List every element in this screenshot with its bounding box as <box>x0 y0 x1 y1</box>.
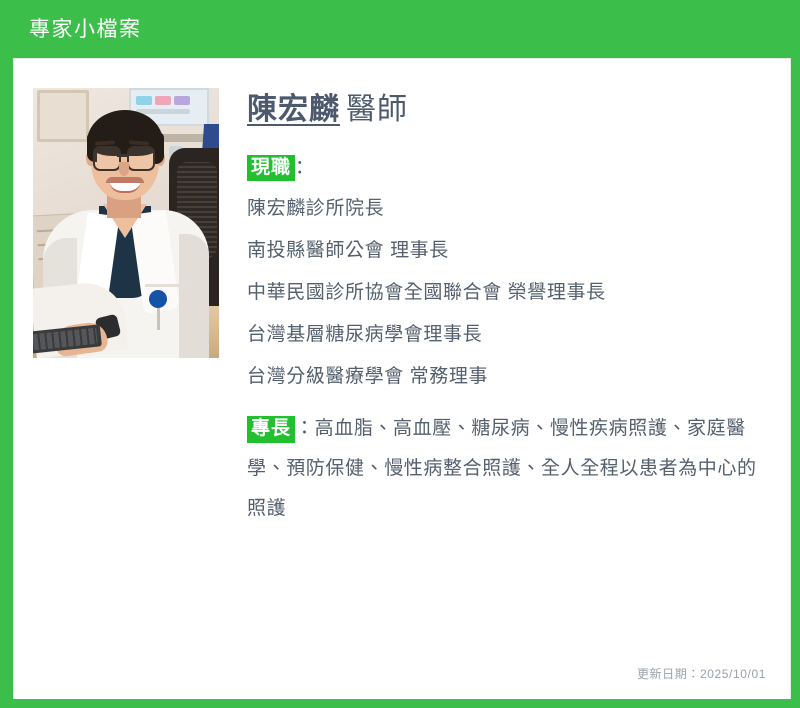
card-header-title: 專家小檔案 <box>29 19 142 40</box>
profile-card-frame: 專家小檔案 <box>0 0 800 708</box>
list-item: 中華民國診所協會全國聯合會 榮譽理事長 <box>247 283 772 302</box>
poster-swatch-3 <box>174 96 190 105</box>
specialty-label: 專長 <box>247 416 295 443</box>
doctor-photo <box>33 88 219 358</box>
poster-swatch-1 <box>136 96 152 105</box>
card-header: 專家小檔案 <box>13 0 791 58</box>
profile-card: 陳宏麟醫師 現職： 陳宏麟診所院長 南投縣醫師公會 理事長 中華民國診所協會全國… <box>13 58 791 699</box>
photo-id-badge-reel <box>149 290 167 308</box>
card-footer: 更新日期：2025/10/01 <box>14 665 790 699</box>
doctor-name-heading: 陳宏麟醫師 <box>247 88 772 129</box>
current-position-label: 現職 <box>247 155 295 182</box>
current-position-heading: 現職： <box>247 155 772 182</box>
positions-list: 陳宏麟診所院長 南投縣醫師公會 理事長 中華民國診所協會全國聯合會 榮譽理事長 … <box>247 199 772 386</box>
poster-line <box>136 109 190 114</box>
photo-glasses-right-lens <box>127 146 155 171</box>
specialty-paragraph: 專長：高血脂、高血壓、糖尿病、慢性疾病照護、家庭醫學、預防保健、慢性病整合照護、… <box>247 409 772 529</box>
photo-coat-shadow-right <box>179 234 209 358</box>
specialty-colon: ： <box>295 418 315 439</box>
current-position-colon: ： <box>295 157 314 178</box>
doctor-name: 陳宏麟 <box>247 93 340 126</box>
list-item: 台灣基層糖尿病學會理事長 <box>247 325 772 344</box>
portrait-column <box>33 88 219 665</box>
specialty-text: 高血脂、高血壓、糖尿病、慢性疾病照護、家庭醫學、預防保健、慢性病整合照護、全人全… <box>247 418 757 519</box>
list-item: 南投縣醫師公會 理事長 <box>247 241 772 260</box>
info-column: 陳宏麟醫師 現職： 陳宏麟診所院長 南投縣醫師公會 理事長 中華民國診所協會全國… <box>219 88 790 665</box>
poster-swatch-2 <box>155 96 171 105</box>
photo-nose <box>119 162 129 176</box>
photo-glasses-bridge <box>117 154 127 157</box>
photo-coat-pocket <box>145 284 189 287</box>
list-item: 陳宏麟診所院長 <box>247 199 772 218</box>
photo-badge-cord <box>157 306 160 330</box>
photo-wall-frame <box>37 90 89 142</box>
photo-glasses-left-lens <box>93 146 121 171</box>
list-item: 台灣分級醫療學會 常務理事 <box>247 367 772 386</box>
doctor-title-suffix: 醫師 <box>346 93 408 126</box>
update-date: 更新日期：2025/10/01 <box>637 667 766 681</box>
card-body: 陳宏麟醫師 現職： 陳宏麟診所院長 南投縣醫師公會 理事長 中華民國診所協會全國… <box>14 59 790 665</box>
